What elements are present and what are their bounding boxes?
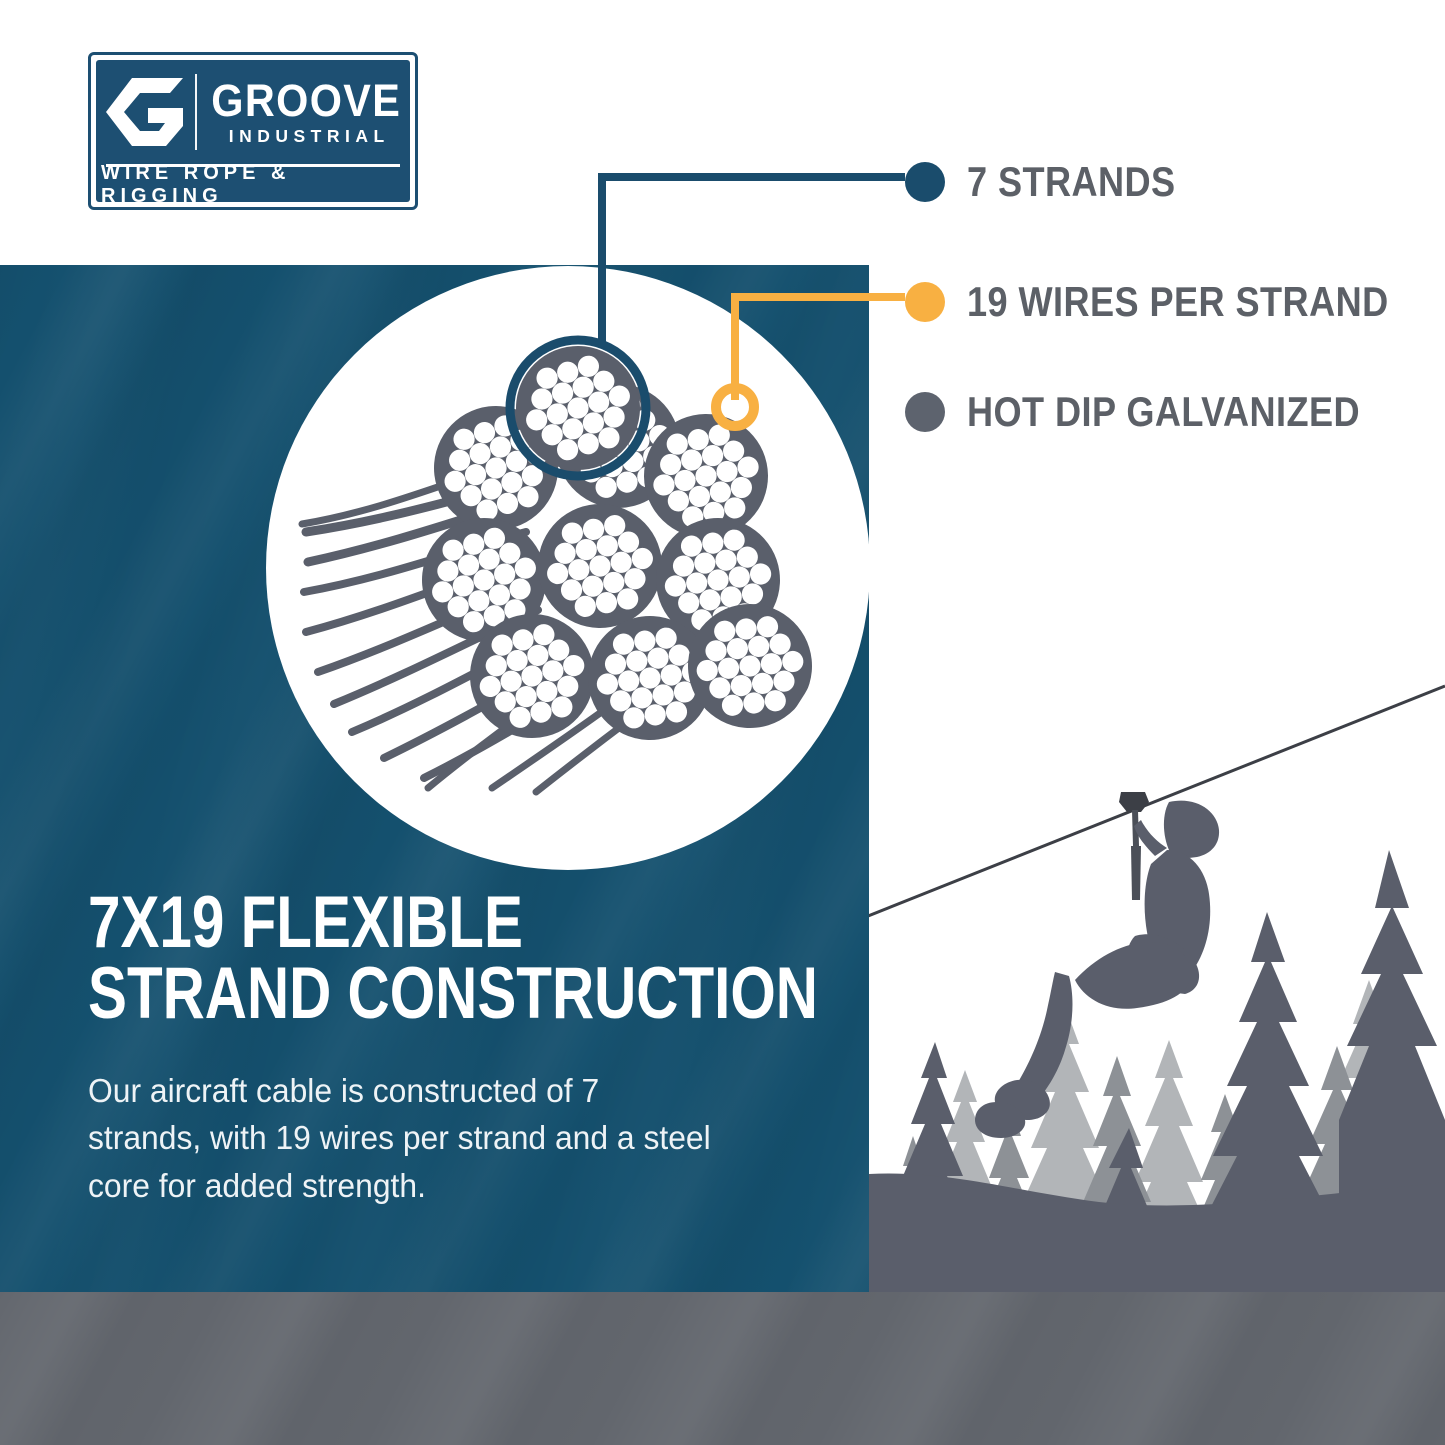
callout-dot-gray-icon [905,392,945,432]
callout-label-wires: 19 WIRES PER STRAND [967,278,1389,326]
headline-line-2: STRAND CONSTRUCTION [88,959,824,1030]
zipline-photo [869,650,1445,1295]
connector-line-strands [602,177,905,342]
callout-strands[interactable]: 7 STRANDS [905,158,1210,206]
bottom-bar [0,1292,1445,1445]
page-title: 7X19 FLEXIBLE STRAND CONSTRUCTION [88,888,824,1030]
connector-line-wires [735,297,905,400]
headline-line-1: 7X19 FLEXIBLE [88,882,523,963]
panel-description: Our aircraft cable is constructed of 7 s… [88,1068,715,1211]
callout-label-strands: 7 STRANDS [967,158,1176,206]
bottom-bar-texture [0,1292,1445,1445]
panel-text-block: 7X19 FLEXIBLE STRAND CONSTRUCTION Our ai… [88,888,828,1210]
callout-galvanized[interactable]: HOT DIP GALVANIZED [905,388,1424,436]
callout-dot-orange-icon [905,282,945,322]
callout-dot-navy-icon [905,162,945,202]
callout-label-galvanized: HOT DIP GALVANIZED [967,388,1360,436]
infographic-canvas: GROOVE INDUSTRIAL WIRE ROPE & RIGGING [0,0,1445,1445]
callout-wires-per-strand[interactable]: 19 WIRES PER STRAND [905,278,1445,326]
